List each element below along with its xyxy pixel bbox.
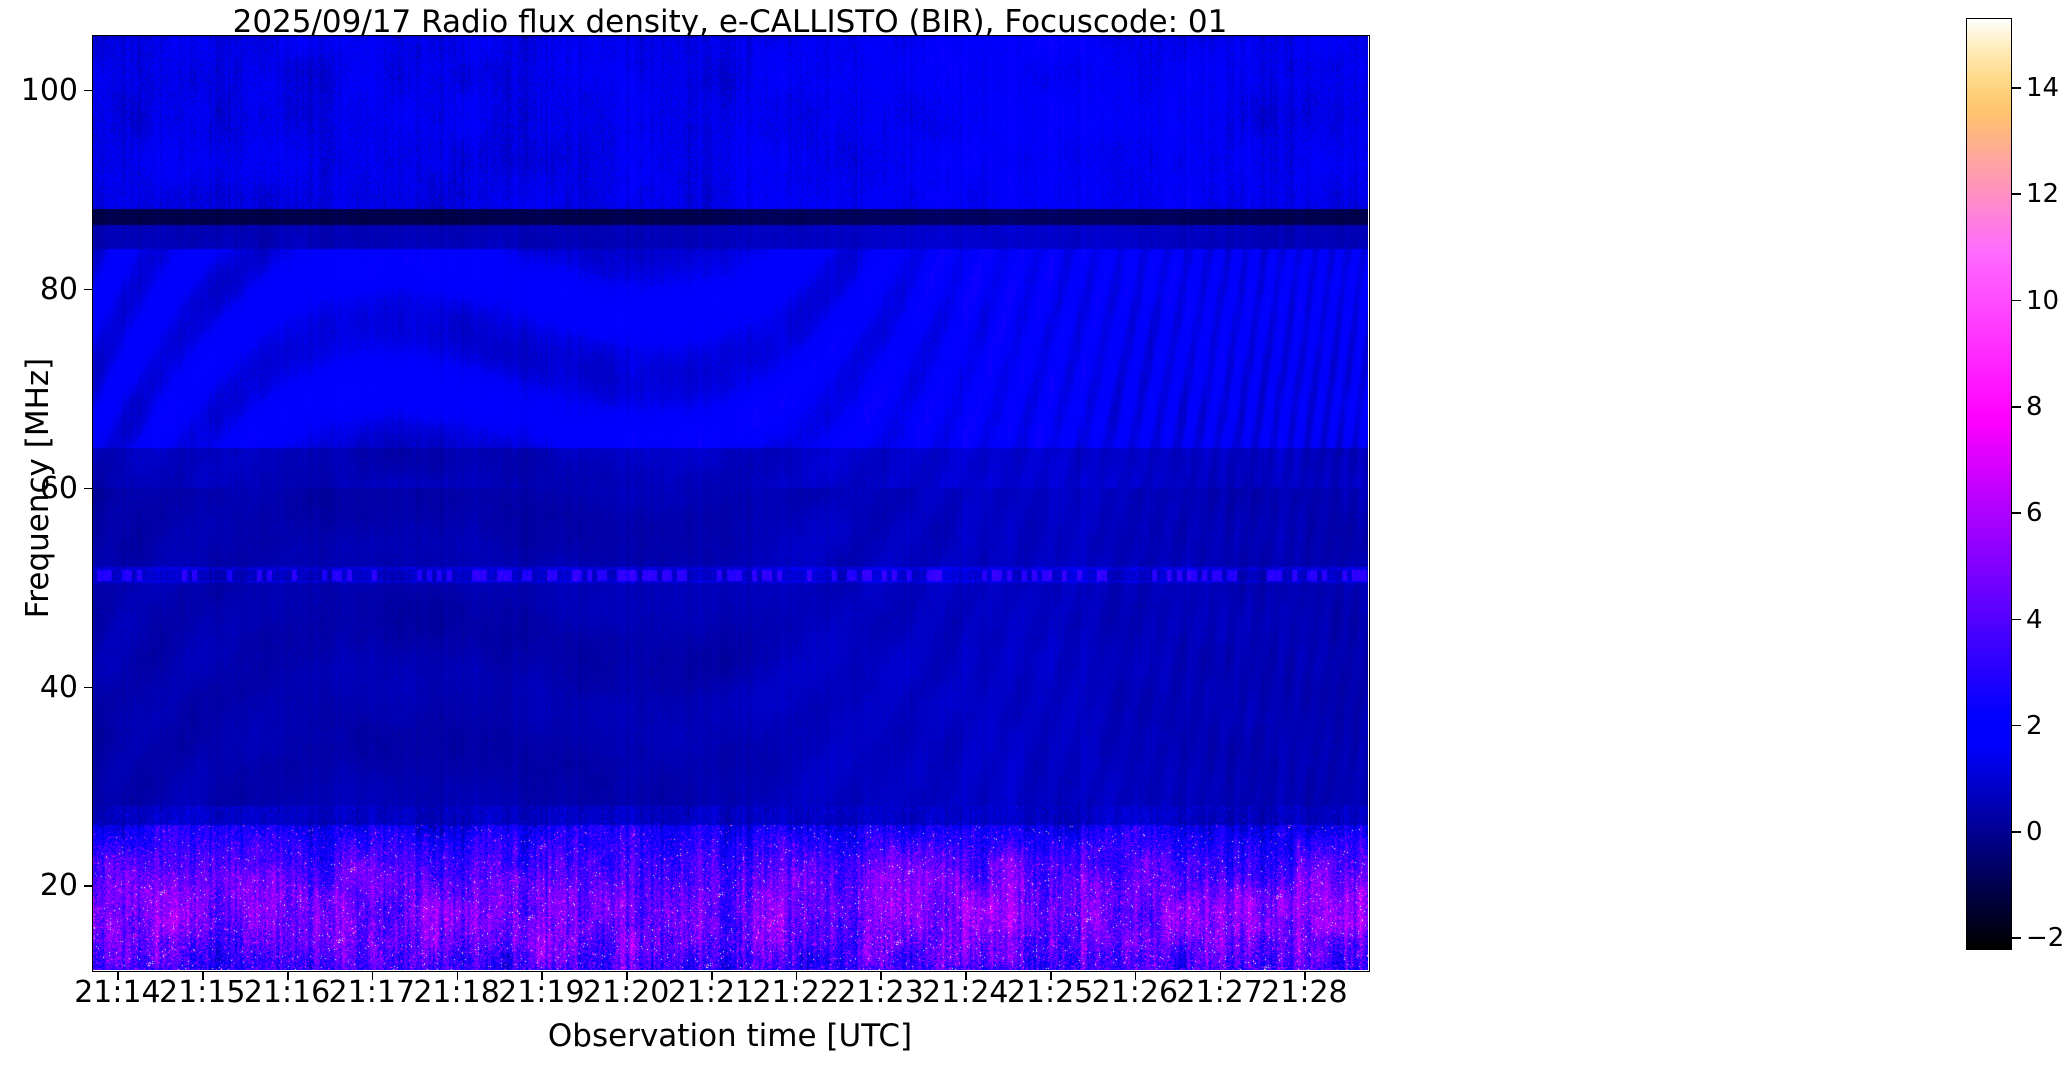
colorbar[interactable] <box>1966 18 2012 950</box>
x-tick-mark <box>202 971 204 980</box>
colorbar-label-wrap: dB above background <box>2048 0 2066 960</box>
colorbar-tick-label: 2 <box>2026 711 2043 741</box>
x-axis-ticks: 21:1421:1521:1621:1721:1821:1921:2021:21… <box>92 975 1368 1019</box>
y-tick-mark <box>84 90 92 92</box>
x-tick-mark <box>457 971 459 980</box>
x-tick-mark <box>796 971 798 980</box>
colorbar-tick-label: 0 <box>2026 817 2043 847</box>
x-tick-mark <box>1135 971 1137 980</box>
x-tick-mark <box>880 971 882 980</box>
y-tick-mark <box>84 289 92 291</box>
x-tick-mark <box>117 971 119 980</box>
colorbar-tick-label: 8 <box>2026 392 2043 422</box>
x-tick-mark <box>541 971 543 980</box>
x-tick-mark <box>626 971 628 980</box>
colorbar-tick-mark <box>2012 87 2021 89</box>
x-tick-mark <box>1304 971 1306 980</box>
x-tick-mark <box>1220 971 1222 980</box>
spectrogram-canvas[interactable] <box>92 35 1368 970</box>
y-tick-mark <box>84 885 92 887</box>
x-tick-mark <box>711 971 713 980</box>
spectrogram-image[interactable] <box>92 35 1368 970</box>
colorbar-tick-mark <box>2012 512 2021 514</box>
y-tick-label: 60 <box>8 471 78 506</box>
spectrogram-figure: 2025/09/17 Radio flux density, e-CALLIST… <box>0 0 2066 1067</box>
y-tick-label: 40 <box>8 670 78 705</box>
colorbar-tick-mark <box>2012 406 2021 408</box>
colorbar-tick-mark <box>2012 831 2021 833</box>
x-tick-mark <box>1050 971 1052 980</box>
colorbar-tick-label: 6 <box>2026 498 2043 528</box>
x-tick-label: 21:28 <box>1229 975 1379 1010</box>
x-tick-mark <box>372 971 374 980</box>
y-tick-mark <box>84 488 92 490</box>
colorbar-tick-mark <box>2012 937 2021 939</box>
colorbar-tick-mark <box>2012 725 2021 727</box>
y-tick-label: 100 <box>8 73 78 108</box>
y-axis-ticks: 20406080100 <box>0 35 78 970</box>
x-axis-label: Observation time [UTC] <box>92 1018 1368 1054</box>
y-tick-label: 20 <box>8 868 78 903</box>
x-tick-mark <box>965 971 967 980</box>
y-tick-label: 80 <box>8 272 78 307</box>
colorbar-tick-mark <box>2012 619 2021 621</box>
colorbar-tick-mark <box>2012 193 2021 195</box>
y-tick-mark <box>84 687 92 689</box>
colorbar-tick-label: 4 <box>2026 605 2043 635</box>
colorbar-tick-mark <box>2012 300 2021 302</box>
x-tick-mark <box>287 971 289 980</box>
colorbar-canvas <box>1967 19 2011 949</box>
